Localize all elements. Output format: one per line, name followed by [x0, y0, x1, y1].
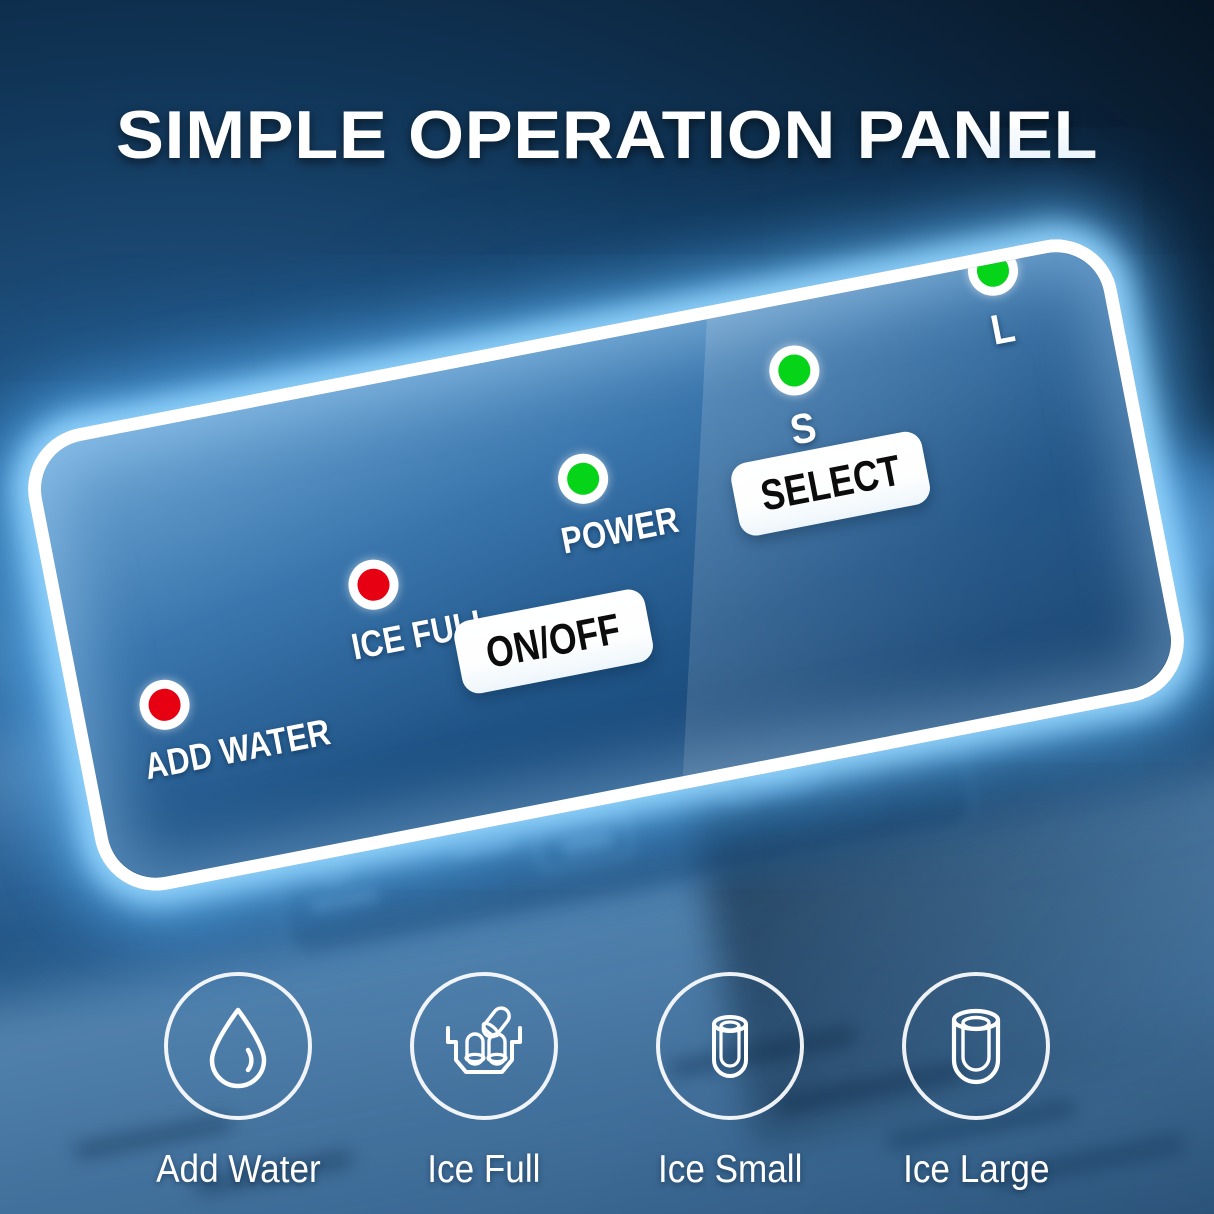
feature-ice-large: Ice Large: [853, 972, 1099, 1192]
feature-ice-full: Ice Full: [361, 972, 607, 1192]
power-led: [554, 449, 613, 508]
ice-full-led: [344, 555, 403, 614]
power-label: POWER: [558, 499, 683, 563]
feature-ice-small-label: Ice Small: [658, 1148, 802, 1192]
ice-small-label: S: [786, 403, 820, 455]
ice-small-led: [765, 341, 824, 400]
select-button-label: SELECT: [756, 446, 904, 521]
promo-image: SIMPLE OPERATION PANEL ADD WATER ICE FUL…: [0, 0, 1214, 1214]
page-title: SIMPLE OPERATION PANEL: [0, 96, 1214, 174]
feature-add-water: Add Water: [115, 972, 361, 1192]
add-water-led: [135, 675, 194, 734]
background-led-label: [310, 888, 379, 912]
on-off-button-label: ON/OFF: [482, 604, 625, 678]
indicator-ice-full: ICE FULL: [344, 555, 403, 614]
background-led-label: [452, 835, 515, 858]
feature-add-water-circle: [164, 972, 312, 1120]
feature-ice-small: Ice Small: [607, 972, 853, 1192]
ice-cube-small-icon: [684, 1000, 776, 1092]
feature-ice-full-label: Ice Full: [427, 1148, 540, 1192]
water-drop-icon: [192, 1000, 284, 1092]
ice-full-bin-icon: [436, 998, 532, 1094]
indicator-add-water: ADD WATER: [135, 675, 194, 734]
ice-large-label: L: [987, 303, 1019, 355]
feature-add-water-label: Add Water: [156, 1148, 321, 1192]
indicator-power: POWER: [554, 449, 613, 508]
feature-ice-full-circle: [410, 972, 558, 1120]
feature-ice-large-circle: [902, 972, 1050, 1120]
feature-ice-large-label: Ice Large: [903, 1148, 1049, 1192]
feature-ice-small-circle: [656, 972, 804, 1120]
ice-cube-large-icon: [928, 998, 1024, 1094]
select-button[interactable]: SELECT: [728, 429, 933, 539]
indicator-ice-small: S: [765, 341, 824, 400]
background-button: [532, 809, 635, 872]
feature-icon-row: Add Water: [0, 972, 1214, 1192]
